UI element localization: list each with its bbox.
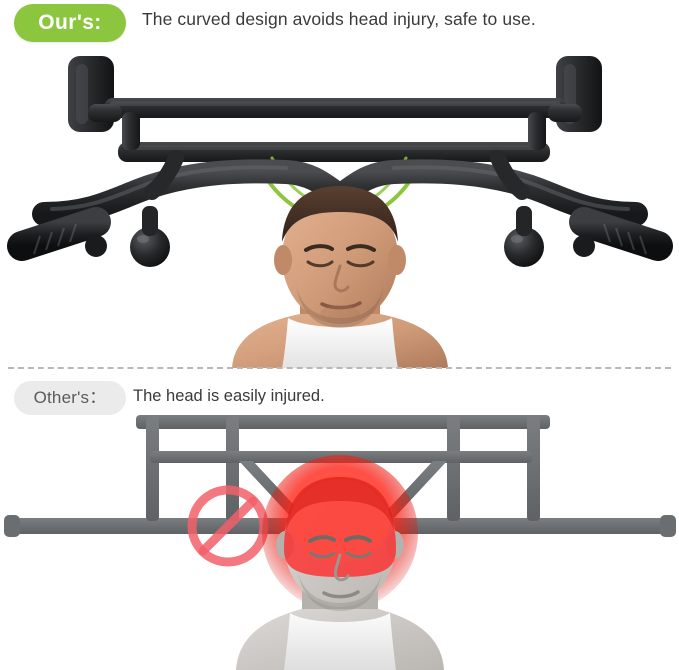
others-badge-label: Other's： bbox=[14, 381, 126, 415]
ours-product-illustration bbox=[0, 46, 679, 368]
ours-artwork-svg bbox=[0, 46, 679, 368]
others-badge: Other's： bbox=[14, 381, 126, 415]
others-caption: The head is easily injured. bbox=[133, 387, 325, 406]
ours-caption: The curved design avoids head injury, sa… bbox=[142, 9, 536, 30]
ours-panel: Our's: The curved design avoids head inj… bbox=[0, 0, 679, 368]
person-under-bar bbox=[232, 186, 448, 368]
others-panel: Other's： The head is easily injured. bbox=[0, 369, 679, 670]
others-product-illustration bbox=[0, 415, 679, 670]
mount-plates bbox=[68, 56, 602, 132]
comparison-image: Our's: The curved design avoids head inj… bbox=[0, 0, 679, 670]
ours-badge: Our's: bbox=[14, 4, 126, 42]
top-cross-beam bbox=[104, 98, 566, 118]
ours-badge-label: Our's: bbox=[14, 4, 126, 42]
others-artwork-svg bbox=[0, 415, 679, 670]
